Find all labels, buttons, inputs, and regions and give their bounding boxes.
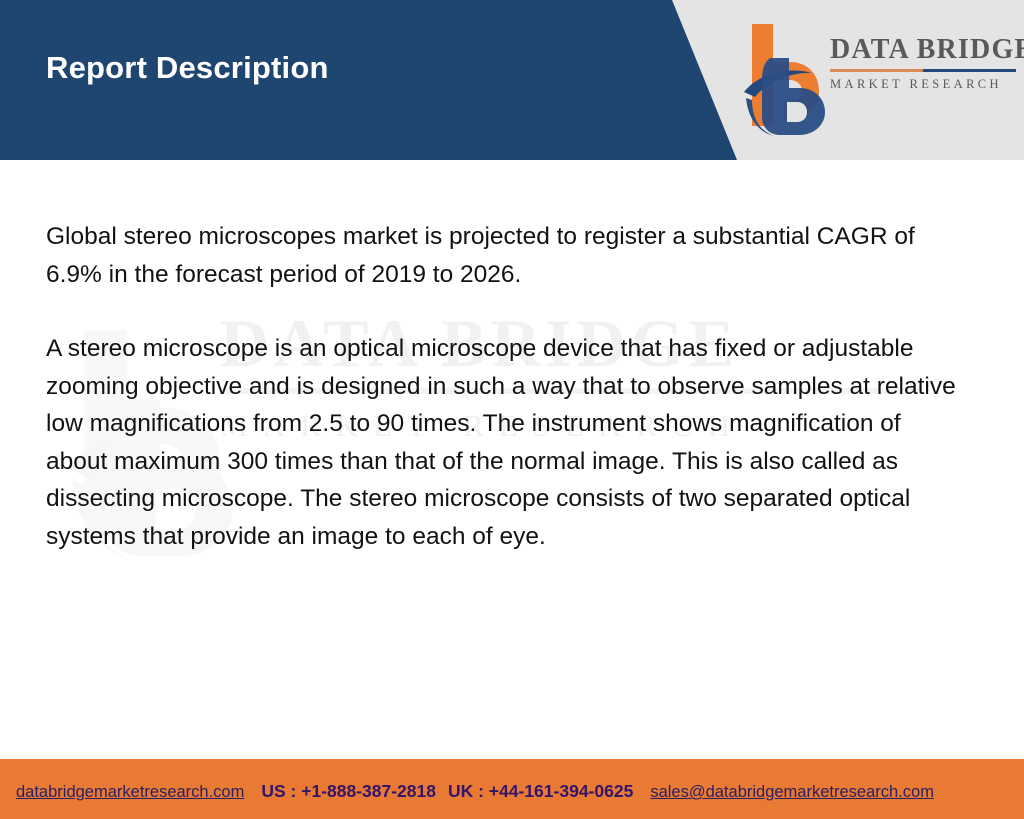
logo-wordmark: DATA BRIDGE MARKET RESEARCH — [830, 34, 1016, 92]
paragraph-2: A stereo microscope is an optical micros… — [46, 330, 956, 555]
footer-email-link[interactable]: sales@databridgemarketresearch.com — [650, 783, 934, 802]
slide-root: Report Description DATA BRIDGE — [0, 0, 1024, 819]
data-bridge-b-logo-icon — [740, 18, 826, 138]
footer-us-phone[interactable]: US : +1-888-387-2818 — [261, 781, 436, 802]
logo-word-data-bridge: DATA BRIDGE — [830, 34, 1016, 66]
logo-divider-rule — [830, 69, 1016, 72]
logo-word-market-research: MARKET RESEARCH — [830, 77, 1016, 92]
footer-bar: databridgemarketresearch.com US : +1-888… — [0, 759, 1024, 819]
report-description-body: Global stereo microscopes market is proj… — [46, 218, 956, 555]
page-title: Report Description — [46, 50, 329, 86]
footer-uk-phone[interactable]: UK : +44-161-394-0625 — [448, 781, 633, 802]
footer-contact-row: databridgemarketresearch.com US : +1-888… — [16, 781, 1016, 802]
brand-logo: DATA BRIDGE MARKET RESEARCH — [740, 18, 1018, 138]
paragraph-1: Global stereo microscopes market is proj… — [46, 218, 956, 293]
header-bar: Report Description DATA BRIDGE — [0, 0, 1024, 160]
paragraph-spacer — [46, 293, 956, 330]
footer-website-link[interactable]: databridgemarketresearch.com — [16, 783, 244, 802]
